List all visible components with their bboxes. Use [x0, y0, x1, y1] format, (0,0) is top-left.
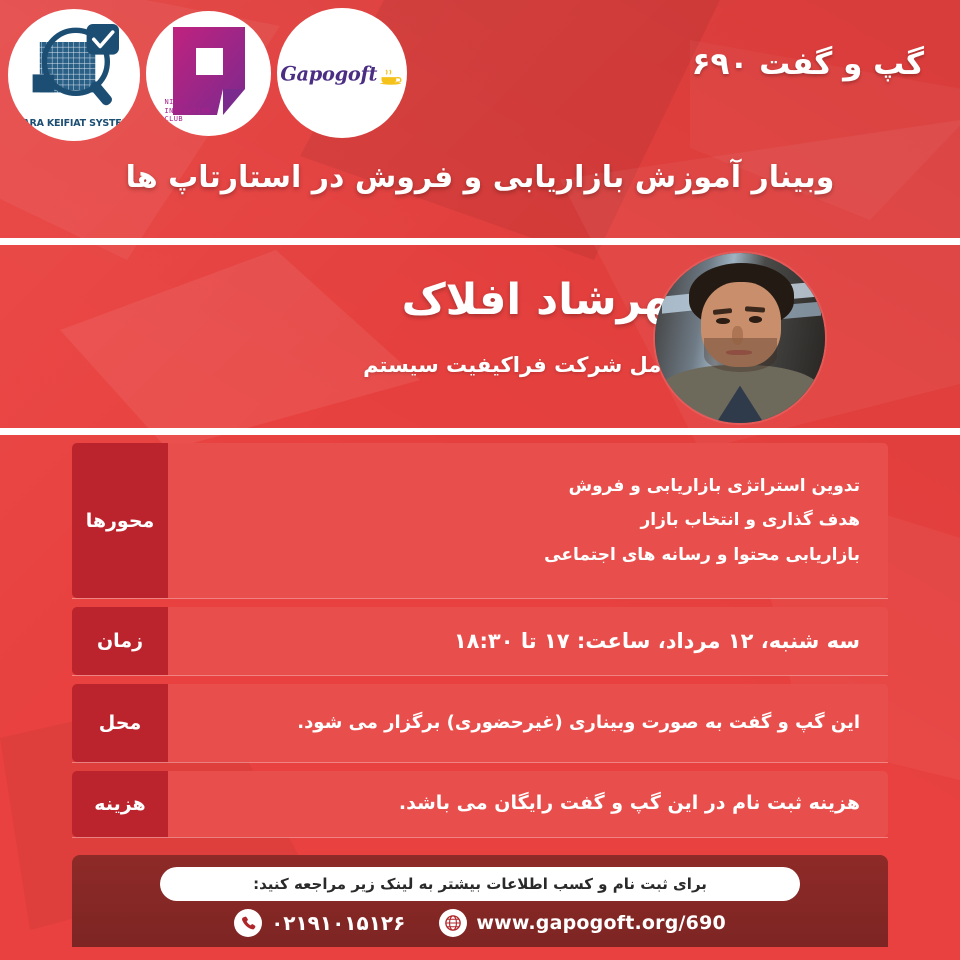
website-url: www.gapogoft.org/690 [476, 912, 726, 934]
speaker-portrait [655, 253, 825, 423]
gapogoft-logo: Gapogoft [277, 8, 407, 138]
table-row: محل این گپ و گفت به صورت وبیناری (غیرحضو… [72, 684, 888, 762]
table-row: زمان سه شنبه، ۱۲ مرداد، ساعت: ۱۷ تا ۱۸:۳… [72, 607, 888, 675]
row-value-time: سه شنبه، ۱۲ مرداد، ساعت: ۱۷ تا ۱۸:۳۰ [168, 607, 888, 675]
table-row: محورها تدوین استراتژی بازاریابی و فروش ه… [72, 443, 888, 598]
phone-icon [234, 909, 262, 937]
poster-header: Gapogoft [0, 0, 960, 245]
fara-keifiat-caption: FARA KEIFIAT SYSTEM [14, 118, 134, 129]
globe-icon [439, 909, 467, 937]
row-label-cost: هزینه [72, 771, 168, 837]
logo-row: Gapogoft [8, 8, 407, 141]
row-label-time: زمان [72, 607, 168, 675]
row-label-topics: محورها [72, 443, 168, 598]
row-label-place: محل [72, 684, 168, 762]
poster-canvas: Gapogoft [0, 0, 960, 960]
cost-text: هزینه ثبت نام در این گپ و گفت رایگان می … [186, 785, 860, 823]
nitro-innovation-club-logo: NITROINNOVATIONCLUB [146, 11, 271, 136]
bottom-strip [0, 948, 960, 960]
gapogoft-wordmark: Gapogoft [281, 62, 378, 85]
table-row: هزینه هزینه ثبت نام در این گپ و گفت رایگ… [72, 771, 888, 837]
topic-line: بازاریابی محتوا و رسانه های اجتماعی [186, 538, 860, 573]
speaker-divider [0, 428, 960, 435]
row-value-topics: تدوین استراتژی بازاریابی و فروش هدف گذار… [168, 443, 888, 598]
details-table: محورها تدوین استراتژی بازاریابی و فروش ه… [72, 443, 888, 846]
series-label: گپ و گفت ۶۹۰ [692, 46, 924, 82]
row-value-place: این گپ و گفت به صورت وبیناری (غیرحضوری) … [168, 684, 888, 762]
nitro-club-caption: NITROINNOVATIONCLUB [165, 98, 211, 124]
row-value-cost: هزینه ثبت نام در این گپ و گفت رایگان می … [168, 771, 888, 837]
website-contact[interactable]: www.gapogoft.org/690 [439, 909, 726, 937]
phone-contact[interactable]: ۰۲۱۹۱۰۱۵۱۲۶ [234, 909, 405, 937]
coffee-cup-book-icon [379, 62, 403, 84]
registration-cta[interactable]: برای ثبت نام و کسب اطلاعات بیشتر به لینک… [160, 867, 800, 901]
fara-keifiat-system-logo: FARA KEIFIAT SYSTEM [8, 9, 140, 141]
speaker-section: مهرشاد افلاک مدیر عامل شرکت فراکیفیت سیس… [0, 245, 960, 428]
time-text: سه شنبه، ۱۲ مرداد، ساعت: ۱۷ تا ۱۸:۳۰ [186, 621, 860, 661]
topic-line: تدوین استراتژی بازاریابی و فروش [186, 469, 860, 504]
phone-number: ۰۲۱۹۱۰۱۵۱۲۶ [271, 911, 405, 935]
poster-footer: برای ثبت نام و کسب اطلاعات بیشتر به لینک… [72, 855, 888, 947]
place-text: این گپ و گفت به صورت وبیناری (غیرحضوری) … [186, 705, 860, 741]
contact-row: ۰۲۱۹۱۰۱۵۱۲۶ www.gapogoft.org/690 [72, 909, 888, 937]
topic-line: هدف گذاری و انتخاب بازار [186, 503, 860, 538]
page-title: وبینار آموزش بازاریابی و فروش در استارتا… [0, 160, 960, 195]
header-divider [0, 238, 960, 245]
